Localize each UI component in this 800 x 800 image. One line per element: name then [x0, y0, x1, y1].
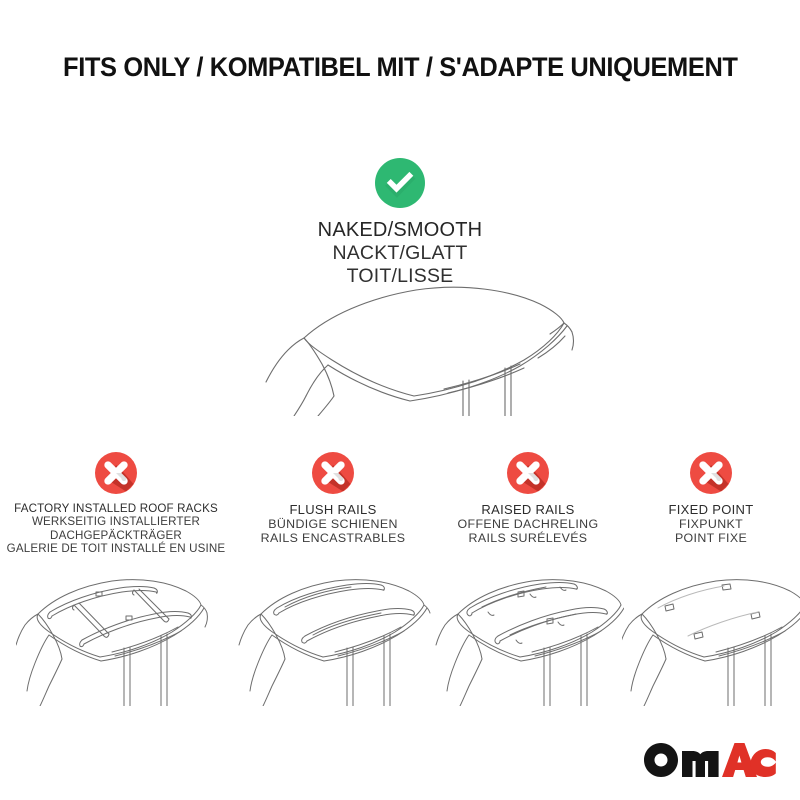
label-en: FLUSH RAILS — [232, 502, 434, 517]
factory-roof-rack-illustration — [0, 556, 232, 706]
compatible-label-de: NACKT/GLATT — [0, 242, 800, 265]
label-de-line2: DACHGEPÄCKTRÄGER — [0, 529, 232, 542]
label-fr: RAILS SURÉLEVÉS — [434, 531, 622, 545]
label-en: FACTORY INSTALLED ROOF RACKS — [0, 502, 232, 515]
compatible-label-en: NAKED/SMOOTH — [0, 219, 800, 242]
fixed-point-roof-illustration — [622, 556, 800, 706]
label-en: RAISED RAILS — [434, 502, 622, 517]
label-de: FIXPUNKT — [622, 517, 800, 531]
flush-rails-roof-illustration — [232, 556, 434, 706]
incompatible-item-raised-rails: RAISED RAILS OFFENE DACHRELING RAILS SUR… — [434, 452, 622, 546]
page-title-text: FITS ONLY / KOMPATIBEL MIT / S'ADAPTE UN… — [63, 52, 738, 83]
green-check-circle-icon — [375, 158, 425, 208]
incompatible-labels: RAISED RAILS OFFENE DACHRELING RAILS SUR… — [434, 502, 622, 546]
incompatible-labels: FIXED POINT FIXPUNKT POINT FIXE — [622, 502, 800, 546]
label-de: OFFENE DACHRELING — [434, 517, 622, 531]
incompatible-labels: FACTORY INSTALLED ROOF RACKS WERKSEITIG … — [0, 502, 232, 556]
label-fr: POINT FIXE — [622, 531, 800, 545]
red-x-circle-icon — [312, 452, 354, 494]
incompatible-labels: FLUSH RAILS BÜNDIGE SCHIENEN RAILS ENCAS… — [232, 502, 434, 546]
label-de: BÜNDIGE SCHIENEN — [232, 517, 434, 531]
naked-smooth-roof-illustration — [258, 276, 588, 416]
incompatible-item-factory-installed-roof-racks: FACTORY INSTALLED ROOF RACKS WERKSEITIG … — [0, 452, 232, 556]
incompatible-roof-sections: FACTORY INSTALLED ROOF RACKS WERKSEITIG … — [0, 452, 800, 702]
raised-rails-roof-illustration — [434, 556, 622, 706]
label-en: FIXED POINT — [622, 502, 800, 517]
incompatible-item-flush-rails: FLUSH RAILS BÜNDIGE SCHIENEN RAILS ENCAS… — [232, 452, 434, 546]
red-x-circle-icon — [95, 452, 137, 494]
red-x-circle-icon — [690, 452, 732, 494]
omac-logo — [644, 742, 776, 778]
label-fr: GALERIE DE TOIT INSTALLÉ EN USINE — [0, 542, 232, 555]
label-fr: RAILS ENCASTRABLES — [232, 531, 434, 545]
compatible-roof-section: NAKED/SMOOTH NACKT/GLATT TOIT/LISSE — [0, 158, 800, 288]
page-title: FITS ONLY / KOMPATIBEL MIT / S'ADAPTE UN… — [0, 52, 800, 83]
incompatible-item-fixed-point: FIXED POINT FIXPUNKT POINT FIXE — [622, 452, 800, 546]
red-x-circle-icon — [507, 452, 549, 494]
label-de-line1: WERKSEITIG INSTALLIERTER — [0, 515, 232, 528]
